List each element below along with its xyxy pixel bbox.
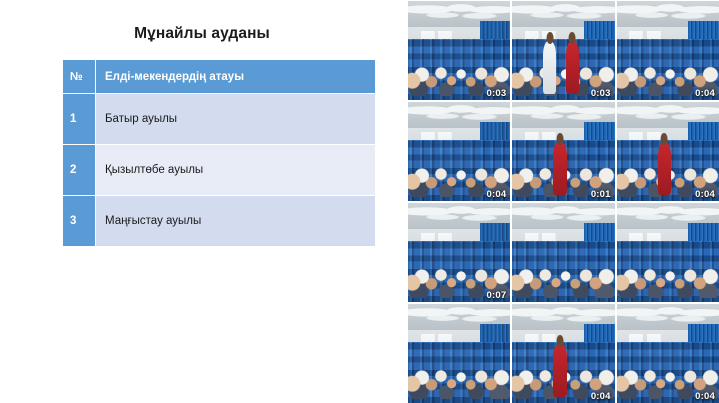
table-row: 3 Маңғыстау ауылы <box>63 196 375 246</box>
video-thumbnail-grid[interactable]: 0:030:030:040:040:010:040:070:040:04 <box>404 0 719 403</box>
video-duration-badge: 0:04 <box>695 89 715 99</box>
table-body: 1 Батыр ауылы 2 Қызылтөбе ауылы 3 Маңғыс… <box>63 94 375 246</box>
video-thumbnail[interactable]: 0:03 <box>512 1 614 100</box>
video-duration-badge: 0:04 <box>487 190 507 200</box>
lights-layer <box>512 206 614 224</box>
lights-layer <box>512 307 614 325</box>
lights-layer <box>512 105 614 123</box>
lights-layer <box>617 206 719 224</box>
village-table: № Елді-мекендердің атауы 1 Батыр ауылы 2… <box>63 59 375 247</box>
full-auditorium-wide-alt-image <box>617 203 719 302</box>
lights-layer <box>408 206 510 224</box>
audience-hall-blue-curtains-image <box>617 1 719 100</box>
video-thumbnail[interactable]: 0:04 <box>617 304 719 403</box>
table-header-row: № Елді-мекендердің атауы <box>63 60 375 93</box>
woman-in-red-gesturing-image <box>617 102 719 201</box>
video-thumbnail[interactable]: 0:04 <box>617 1 719 100</box>
video-duration-badge: 0:04 <box>591 392 611 402</box>
presenter-figure-red <box>566 41 579 94</box>
auditorium-rows-from-side-image <box>408 304 510 403</box>
lights-layer <box>408 105 510 123</box>
row-number: 1 <box>63 94 96 144</box>
column-header-number: № <box>63 60 96 93</box>
presenter-figure-white <box>543 41 556 94</box>
row-number: 3 <box>63 196 96 246</box>
full-auditorium-wide-image <box>512 203 614 302</box>
crowd-layer <box>512 247 614 298</box>
two-women-standing-presenters-image <box>512 1 614 100</box>
video-thumbnail[interactable] <box>617 203 719 302</box>
table-row: 1 Батыр ауылы <box>63 94 375 144</box>
page-title: Мұнайлы ауданы <box>0 25 404 43</box>
video-duration-badge: 0:03 <box>487 89 507 99</box>
lights-layer <box>617 4 719 22</box>
row-settlement-name: Қызылтөбе ауылы <box>96 145 375 195</box>
video-thumbnail[interactable] <box>512 203 614 302</box>
video-thumbnail[interactable] <box>408 304 510 403</box>
row-number: 2 <box>63 145 96 195</box>
crowd-layer <box>408 348 510 399</box>
lights-layer <box>408 4 510 22</box>
video-duration-badge: 0:01 <box>591 190 611 200</box>
video-thumbnail[interactable]: 0:04 <box>617 102 719 201</box>
video-thumbnail[interactable]: 0:04 <box>512 304 614 403</box>
video-duration-badge: 0:04 <box>695 190 715 200</box>
video-duration-badge: 0:03 <box>591 89 611 99</box>
row-settlement-name: Маңғыстау ауылы <box>96 196 375 246</box>
row-settlement-name: Батыр ауылы <box>96 94 375 144</box>
video-duration-badge: 0:04 <box>695 392 715 402</box>
lights-layer <box>617 105 719 123</box>
audience-closeup-raised-hands-image <box>617 304 719 403</box>
video-thumbnail[interactable]: 0:01 <box>512 102 614 201</box>
video-thumbnail[interactable]: 0:04 <box>408 102 510 201</box>
video-thumbnail[interactable]: 0:03 <box>408 1 510 100</box>
video-duration-badge: 0:07 <box>487 291 507 301</box>
column-header-settlement-name: Елді-мекендердің атауы <box>96 60 375 93</box>
presenter-figure-red <box>553 142 566 195</box>
presenter-red-addressing-room-image <box>512 304 614 403</box>
seated-audience-front-row-image <box>408 1 510 100</box>
lights-layer <box>512 4 614 22</box>
woman-in-red-presenting-image <box>512 102 614 201</box>
table-header: № Елді-мекендердің атауы <box>63 60 375 93</box>
slide-screenshot: Мұнайлы ауданы № Елді-мекендердің атауы … <box>0 0 719 403</box>
video-thumbnail[interactable]: 0:07 <box>408 203 510 302</box>
crowd-layer <box>617 247 719 298</box>
presenter-figure-red <box>553 344 566 397</box>
slide-panel: Мұнайлы ауданы № Елді-мекендердің атауы … <box>0 0 404 403</box>
presenter-figure-red <box>658 142 671 195</box>
seated-men-in-caps-image <box>408 102 510 201</box>
table-row: 2 Қызылтөбе ауылы <box>63 145 375 195</box>
lights-layer <box>617 307 719 325</box>
lights-layer <box>408 307 510 325</box>
women-in-headscarves-closeup-image <box>408 203 510 302</box>
